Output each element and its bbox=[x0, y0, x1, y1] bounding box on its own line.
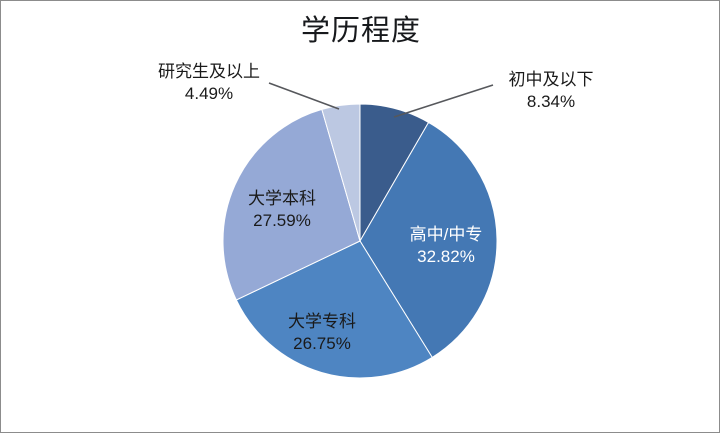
pie-label-juniorhigh-value: 8.34% bbox=[471, 91, 631, 113]
pie-label-college-value: 26.75% bbox=[259, 333, 385, 355]
pie-label-bachelor: 大学本科 27.59% bbox=[219, 188, 345, 232]
pie-label-postgrad-value: 4.49% bbox=[129, 83, 289, 105]
pie-label-juniorhigh-name: 初中及以下 bbox=[471, 69, 631, 91]
pie-label-college-name: 大学专科 bbox=[259, 311, 385, 333]
pie-label-juniorhigh: 初中及以下 8.34% bbox=[471, 69, 631, 113]
pie-chart-figure: 学历程度 研究生及以上 4.49% 初中及以下 8.34% 高中/中专 32.8… bbox=[0, 0, 720, 433]
pie-label-college: 大学专科 26.75% bbox=[259, 311, 385, 355]
pie-label-bachelor-value: 27.59% bbox=[219, 210, 345, 232]
pie-label-seniorhigh-name: 高中/中专 bbox=[383, 224, 509, 246]
pie-label-postgrad-name: 研究生及以上 bbox=[129, 61, 289, 83]
pie-chart-canvas bbox=[1, 1, 720, 433]
pie-label-postgrad: 研究生及以上 4.49% bbox=[129, 61, 289, 105]
pie-label-seniorhigh-value: 32.82% bbox=[383, 246, 509, 268]
pie-label-seniorhigh: 高中/中专 32.82% bbox=[383, 224, 509, 268]
pie-label-bachelor-name: 大学本科 bbox=[219, 188, 345, 210]
